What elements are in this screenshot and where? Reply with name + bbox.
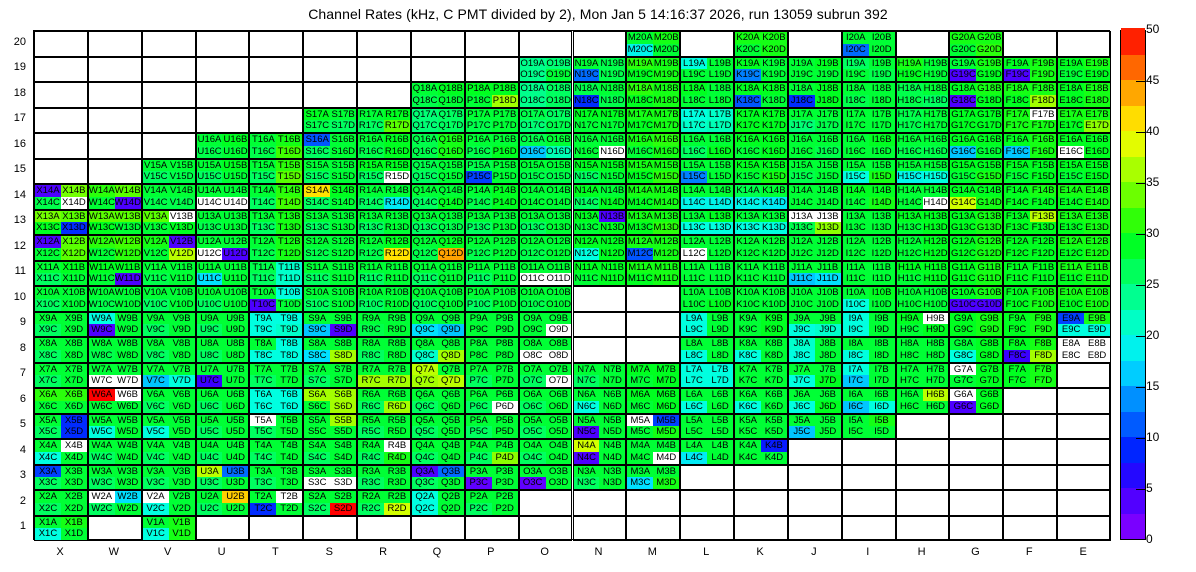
channel-r13a[interactable]: R13A bbox=[358, 211, 384, 223]
channel-w6a[interactable]: W6A bbox=[89, 389, 115, 401]
channel-w7c[interactable]: W7C bbox=[89, 375, 115, 387]
channel-q8c[interactable]: Q8C bbox=[412, 350, 438, 362]
channel-f17b[interactable]: F17B bbox=[1030, 109, 1056, 121]
channel-t4c[interactable]: T4C bbox=[250, 452, 276, 464]
heatmap-cell[interactable]: L7AL7BL7CL7D bbox=[680, 363, 734, 389]
channel-h11c[interactable]: H11C bbox=[897, 273, 923, 285]
channel-o15d[interactable]: O15D bbox=[546, 171, 572, 183]
channel-u3b[interactable]: U3B bbox=[222, 466, 248, 478]
heatmap-cell[interactable]: R16AR16BR16CR16D bbox=[357, 133, 411, 159]
channel-f7a[interactable]: F7A bbox=[1004, 364, 1030, 376]
channel-w2b[interactable]: W2B bbox=[115, 491, 141, 503]
heatmap-cell[interactable]: I20AI20BI20CI20D bbox=[842, 31, 896, 57]
channel-h12d[interactable]: H12D bbox=[923, 248, 949, 260]
channel-t10c[interactable]: T10C bbox=[250, 299, 276, 311]
channel-l4c[interactable]: L4C bbox=[681, 452, 707, 464]
heatmap-cell[interactable]: G9AG9BG9CG9D bbox=[949, 312, 1003, 338]
channel-j13b[interactable]: J13B bbox=[815, 211, 841, 223]
channel-o6c[interactable]: O6C bbox=[520, 401, 546, 413]
channel-u5a[interactable]: U5A bbox=[197, 415, 223, 427]
channel-i16d[interactable]: I16D bbox=[869, 146, 895, 158]
heatmap-cell[interactable]: K20AK20BK20CK20D bbox=[734, 31, 788, 57]
heatmap-cell[interactable]: P10AP10BP10CP10D bbox=[465, 286, 519, 312]
channel-t2b[interactable]: T2B bbox=[276, 491, 302, 503]
channel-p7b[interactable]: P7B bbox=[492, 364, 518, 376]
channel-l14d[interactable]: L14D bbox=[707, 197, 733, 209]
heatmap-cell[interactable]: F15AF15BF15CF15D bbox=[1003, 159, 1057, 185]
channel-j6c[interactable]: J6C bbox=[789, 401, 815, 413]
channel-v5c[interactable]: V5C bbox=[143, 426, 169, 438]
channel-l6d[interactable]: L6D bbox=[707, 401, 733, 413]
channel-e12b[interactable]: E12B bbox=[1084, 236, 1110, 248]
channel-i18d[interactable]: I18D bbox=[869, 95, 895, 107]
channel-e16b[interactable]: E16B bbox=[1084, 134, 1110, 146]
channel-q5d[interactable]: Q5D bbox=[438, 426, 464, 438]
channel-w2d[interactable]: W2D bbox=[115, 503, 141, 515]
channel-h7d[interactable]: H7D bbox=[923, 375, 949, 387]
heatmap-cell[interactable]: N7AN7BN7CN7D bbox=[573, 363, 627, 389]
channel-m13d[interactable]: M13D bbox=[653, 222, 679, 234]
channel-w4b[interactable]: W4B bbox=[115, 440, 141, 452]
heatmap-cell[interactable]: H16AH16BH16CH16D bbox=[896, 133, 950, 159]
channel-o8c[interactable]: O8C bbox=[520, 350, 546, 362]
channel-l13c[interactable]: L13C bbox=[681, 222, 707, 234]
channel-h15b[interactable]: H15B bbox=[923, 160, 949, 172]
channel-x8c[interactable]: X8C bbox=[35, 350, 61, 362]
channel-f13a[interactable]: F13A bbox=[1004, 211, 1030, 223]
channel-p14c[interactable]: P14C bbox=[466, 197, 492, 209]
channel-s11d[interactable]: S11D bbox=[330, 273, 356, 285]
channel-u13d[interactable]: U13D bbox=[222, 222, 248, 234]
heatmap-cell[interactable]: N15AN15BN15CN15D bbox=[573, 159, 627, 185]
channel-q17c[interactable]: Q17C bbox=[412, 120, 438, 132]
heatmap-cell[interactable]: T2AT2BT2CT2D bbox=[249, 490, 303, 516]
channel-q13d[interactable]: Q13D bbox=[438, 222, 464, 234]
channel-f9b[interactable]: F9B bbox=[1030, 313, 1056, 325]
channel-p9d[interactable]: P9D bbox=[492, 324, 518, 336]
heatmap-cell[interactable]: M18AM18BM18CM18D bbox=[626, 82, 680, 108]
heatmap-cell[interactable]: U5AU5BU5CU5D bbox=[196, 414, 250, 440]
channel-r4a[interactable]: R4A bbox=[358, 440, 384, 452]
heatmap-cell[interactable]: J6AJ6BJ6CJ6D bbox=[788, 388, 842, 414]
channel-r7d[interactable]: R7D bbox=[384, 375, 410, 387]
channel-x6b[interactable]: X6B bbox=[61, 389, 87, 401]
heatmap-cell[interactable]: J15AJ15BJ15CJ15D bbox=[788, 159, 842, 185]
channel-l19c[interactable]: L19C bbox=[681, 69, 707, 81]
channel-s3b[interactable]: S3B bbox=[330, 466, 356, 478]
heatmap-cell[interactable]: O3AO3BO3CO3D bbox=[519, 465, 573, 491]
channel-g12c[interactable]: G12C bbox=[950, 248, 976, 260]
heatmap-cell[interactable]: I19AI19BI19CI19D bbox=[842, 57, 896, 83]
heatmap-cell[interactable]: I17AI17BI17CI17D bbox=[842, 108, 896, 134]
channel-v5b[interactable]: V5B bbox=[169, 415, 195, 427]
heatmap-cell[interactable]: K14AK14BK14CK14D bbox=[734, 184, 788, 210]
channel-r2b[interactable]: R2B bbox=[384, 491, 410, 503]
channel-f11a[interactable]: F11A bbox=[1004, 262, 1030, 274]
heatmap-cell[interactable]: L10AL10BL10CL10D bbox=[680, 286, 734, 312]
channel-n16a[interactable]: N16A bbox=[574, 134, 600, 146]
heatmap-cell[interactable]: K18AK18BK18CK18D bbox=[734, 82, 788, 108]
channel-v3d[interactable]: V3D bbox=[169, 477, 195, 489]
heatmap-cell[interactable]: L6AL6BL6CL6D bbox=[680, 388, 734, 414]
channel-k7b[interactable]: K7B bbox=[761, 364, 787, 376]
channel-e16d[interactable]: E16D bbox=[1084, 146, 1110, 158]
channel-s8c[interactable]: S8C bbox=[304, 350, 330, 362]
channel-x12a[interactable]: X12A bbox=[35, 236, 61, 248]
channel-l12d[interactable]: L12D bbox=[707, 248, 733, 260]
channel-p11d[interactable]: P11D bbox=[492, 273, 518, 285]
channel-p12c[interactable]: P12C bbox=[466, 248, 492, 260]
channel-e15d[interactable]: E15D bbox=[1084, 171, 1110, 183]
channel-s15a[interactable]: S15A bbox=[304, 160, 330, 172]
channel-i15b[interactable]: I15B bbox=[869, 160, 895, 172]
channel-w12c[interactable]: W12C bbox=[89, 248, 115, 260]
heatmap-cell[interactable]: H14AH14BH14CH14D bbox=[896, 184, 950, 210]
heatmap-cell[interactable]: L9AL9BL9CL9D bbox=[680, 312, 734, 338]
channel-s17c[interactable]: S17C bbox=[304, 120, 330, 132]
heatmap-cell[interactable]: L17AL17BL17CL17D bbox=[680, 108, 734, 134]
channel-k7d[interactable]: K7D bbox=[761, 375, 787, 387]
channel-q17a[interactable]: Q17A bbox=[412, 109, 438, 121]
heatmap-cell[interactable]: F8AF8BF8CF8D bbox=[1003, 337, 1057, 363]
channel-u10b[interactable]: U10B bbox=[222, 287, 248, 299]
heatmap-cell[interactable]: S15AS15BS15CS15D bbox=[303, 159, 357, 185]
channel-p6c[interactable]: P6C bbox=[466, 401, 492, 413]
channel-j5d[interactable]: J5D bbox=[815, 426, 841, 438]
channel-r3b[interactable]: R3B bbox=[384, 466, 410, 478]
channel-v15b[interactable]: V15B bbox=[169, 160, 195, 172]
channel-s5b[interactable]: S5B bbox=[330, 415, 356, 427]
channel-n14b[interactable]: N14B bbox=[599, 185, 625, 197]
channel-u8c[interactable]: U8C bbox=[197, 350, 223, 362]
channel-e17b[interactable]: E17B bbox=[1084, 109, 1110, 121]
channel-h18a[interactable]: H18A bbox=[897, 83, 923, 95]
channel-i16b[interactable]: I16B bbox=[869, 134, 895, 146]
channel-e8c[interactable]: E8C bbox=[1058, 350, 1084, 362]
channel-t14b[interactable]: T14B bbox=[276, 185, 302, 197]
channel-t6a[interactable]: T6A bbox=[250, 389, 276, 401]
channel-i15c[interactable]: I15C bbox=[843, 171, 869, 183]
channel-g17b[interactable]: G17B bbox=[976, 109, 1002, 121]
channel-q5a[interactable]: Q5A bbox=[412, 415, 438, 427]
channel-q2c[interactable]: Q2C bbox=[412, 503, 438, 515]
channel-k11a[interactable]: K11A bbox=[735, 262, 761, 274]
heatmap-cell[interactable]: T7AT7BT7CT7D bbox=[249, 363, 303, 389]
channel-j5c[interactable]: J5C bbox=[789, 426, 815, 438]
channel-k10c[interactable]: K10C bbox=[735, 299, 761, 311]
channel-k19d[interactable]: K19D bbox=[761, 69, 787, 81]
channel-h19b[interactable]: H19B bbox=[923, 58, 949, 70]
heatmap-cell[interactable]: I14AI14BI14CI14D bbox=[842, 184, 896, 210]
channel-g9c[interactable]: G9C bbox=[950, 324, 976, 336]
heatmap-cell[interactable]: F11AF11BF11CF11D bbox=[1003, 261, 1057, 287]
channel-f19b[interactable]: F19B bbox=[1030, 58, 1056, 70]
channel-f11d[interactable]: F11D bbox=[1030, 273, 1056, 285]
channel-p18c[interactable]: P18C bbox=[466, 95, 492, 107]
channel-k4a[interactable]: K4A bbox=[735, 440, 761, 452]
heatmap-cell[interactable]: P3AP3BP3CP3D bbox=[465, 465, 519, 491]
channel-p4b[interactable]: P4B bbox=[492, 440, 518, 452]
heatmap-cell[interactable]: O8AO8BO8CO8D bbox=[519, 337, 573, 363]
channel-r6a[interactable]: R6A bbox=[358, 389, 384, 401]
heatmap-cell[interactable]: W8AW8BW8CW8D bbox=[88, 337, 142, 363]
channel-s16c[interactable]: S16C bbox=[304, 146, 330, 158]
channel-r14b[interactable]: R14B bbox=[384, 185, 410, 197]
channel-q12b[interactable]: Q12B bbox=[438, 236, 464, 248]
channel-w14b[interactable]: W14B bbox=[115, 185, 141, 197]
channel-x13a[interactable]: X13A bbox=[35, 211, 61, 223]
channel-t14c[interactable]: T14C bbox=[250, 197, 276, 209]
channel-p12b[interactable]: P12B bbox=[492, 236, 518, 248]
channel-p16a[interactable]: P16A bbox=[466, 134, 492, 146]
heatmap-cell[interactable]: G6AG6BG6CG6D bbox=[949, 388, 1003, 414]
channel-x2c[interactable]: X2C bbox=[35, 503, 61, 515]
channel-k10b[interactable]: K10B bbox=[761, 287, 787, 299]
heatmap-cell[interactable]: V14AV14BV14CV14D bbox=[142, 184, 196, 210]
channel-n12d[interactable]: N12D bbox=[599, 248, 625, 260]
channel-f12d[interactable]: F12D bbox=[1030, 248, 1056, 260]
heatmap-cell[interactable]: V12AV12BV12CV12D bbox=[142, 235, 196, 261]
heatmap-cell[interactable]: T15AT15BT15CT15D bbox=[249, 159, 303, 185]
channel-o18b[interactable]: O18B bbox=[546, 83, 572, 95]
channel-p9b[interactable]: P9B bbox=[492, 313, 518, 325]
channel-h11d[interactable]: H11D bbox=[923, 273, 949, 285]
heatmap-cell[interactable]: M19AM19BM19CM19D bbox=[626, 57, 680, 83]
channel-l14a[interactable]: L14A bbox=[681, 185, 707, 197]
channel-i8b[interactable]: I8B bbox=[869, 338, 895, 350]
channel-k20b[interactable]: K20B bbox=[761, 32, 787, 44]
channel-o18d[interactable]: O18D bbox=[546, 95, 572, 107]
channel-w9c[interactable]: W9C bbox=[89, 324, 115, 336]
channel-g15b[interactable]: G15B bbox=[976, 160, 1002, 172]
heatmap-cell[interactable]: J9AJ9BJ9CJ9D bbox=[788, 312, 842, 338]
channel-j19a[interactable]: J19A bbox=[789, 58, 815, 70]
channel-k16a[interactable]: K16A bbox=[735, 134, 761, 146]
channel-s4a[interactable]: S4A bbox=[304, 440, 330, 452]
channel-m5a[interactable]: M5A bbox=[627, 415, 653, 427]
channel-i11b[interactable]: I11B bbox=[869, 262, 895, 274]
heatmap-cell[interactable]: G14AG14BG14CG14D bbox=[949, 184, 1003, 210]
channel-g10b[interactable]: G10B bbox=[976, 287, 1002, 299]
channel-r10a[interactable]: R10A bbox=[358, 287, 384, 299]
channel-j9c[interactable]: J9C bbox=[789, 324, 815, 336]
heatmap-cell[interactable]: I7AI7BI7CI7D bbox=[842, 363, 896, 389]
channel-m13b[interactable]: M13B bbox=[653, 211, 679, 223]
channel-r6b[interactable]: R6B bbox=[384, 389, 410, 401]
channel-v5a[interactable]: V5A bbox=[143, 415, 169, 427]
heatmap-cell[interactable]: V5AV5BV5CV5D bbox=[142, 414, 196, 440]
channel-i8a[interactable]: I8A bbox=[843, 338, 869, 350]
channel-e15c[interactable]: E15C bbox=[1058, 171, 1084, 183]
channel-k17c[interactable]: K17C bbox=[735, 120, 761, 132]
channel-e19d[interactable]: E19D bbox=[1084, 69, 1110, 81]
channel-f17c[interactable]: F17C bbox=[1004, 120, 1030, 132]
heatmap-cell[interactable]: S11AS11BS11CS11D bbox=[303, 261, 357, 287]
channel-t5a[interactable]: T5A bbox=[250, 415, 276, 427]
channel-k8d[interactable]: K8D bbox=[761, 350, 787, 362]
channel-s14c[interactable]: S14C bbox=[304, 197, 330, 209]
channel-v7c[interactable]: V7C bbox=[143, 375, 169, 387]
channel-n5d[interactable]: N5D bbox=[599, 426, 625, 438]
channel-o11c[interactable]: O11C bbox=[520, 273, 546, 285]
channel-j11a[interactable]: J11A bbox=[789, 262, 815, 274]
channel-p4c[interactable]: P4C bbox=[466, 452, 492, 464]
channel-h14c[interactable]: H14C bbox=[897, 197, 923, 209]
channel-e17c[interactable]: E17C bbox=[1058, 120, 1084, 132]
channel-rate-heatmap[interactable]: M20AM20BM20CM20DK20AK20BK20CK20DI20AI20B… bbox=[33, 30, 1110, 540]
channel-p7c[interactable]: P7C bbox=[466, 375, 492, 387]
channel-s13b[interactable]: S13B bbox=[330, 211, 356, 223]
heatmap-cell[interactable]: X10AX10BX10CX10D bbox=[34, 286, 88, 312]
channel-m20a[interactable]: M20A bbox=[627, 32, 653, 44]
channel-u7d[interactable]: U7D bbox=[222, 375, 248, 387]
channel-m17b[interactable]: M17B bbox=[653, 109, 679, 121]
channel-m20d[interactable]: M20D bbox=[653, 44, 679, 56]
channel-m14b[interactable]: M14B bbox=[653, 185, 679, 197]
channel-n6d[interactable]: N6D bbox=[599, 401, 625, 413]
channel-h6b[interactable]: H6B bbox=[923, 389, 949, 401]
channel-x1a[interactable]: X1A bbox=[35, 517, 61, 529]
channel-v4b[interactable]: V4B bbox=[169, 440, 195, 452]
heatmap-cell[interactable]: O14AO14BO14CO14D bbox=[519, 184, 573, 210]
channel-o11d[interactable]: O11D bbox=[546, 273, 572, 285]
channel-l18b[interactable]: L18B bbox=[707, 83, 733, 95]
heatmap-cell[interactable]: J13AJ13BJ13CJ13D bbox=[788, 210, 842, 236]
channel-p14a[interactable]: P14A bbox=[466, 185, 492, 197]
channel-i9d[interactable]: I9D bbox=[869, 324, 895, 336]
channel-t7a[interactable]: T7A bbox=[250, 364, 276, 376]
channel-s12b[interactable]: S12B bbox=[330, 236, 356, 248]
channel-g13b[interactable]: G13B bbox=[976, 211, 1002, 223]
channel-l14b[interactable]: L14B bbox=[707, 185, 733, 197]
channel-n15c[interactable]: N15C bbox=[574, 171, 600, 183]
channel-t3c[interactable]: T3C bbox=[250, 477, 276, 489]
channel-v14b[interactable]: V14B bbox=[169, 185, 195, 197]
channel-k20a[interactable]: K20A bbox=[735, 32, 761, 44]
heatmap-cell[interactable]: G17AG17BG17CG17D bbox=[949, 108, 1003, 134]
channel-s10b[interactable]: S10B bbox=[330, 287, 356, 299]
channel-v13c[interactable]: V13C bbox=[143, 222, 169, 234]
channel-p10c[interactable]: P10C bbox=[466, 299, 492, 311]
channel-g14d[interactable]: G14D bbox=[976, 197, 1002, 209]
channel-j14b[interactable]: J14B bbox=[815, 185, 841, 197]
channel-s5c[interactable]: S5C bbox=[304, 426, 330, 438]
channel-j12d[interactable]: J12D bbox=[815, 248, 841, 260]
channel-m11a[interactable]: M11A bbox=[627, 262, 653, 274]
channel-r2a[interactable]: R2A bbox=[358, 491, 384, 503]
channel-n12c[interactable]: N12C bbox=[574, 248, 600, 260]
channel-p18a[interactable]: P18A bbox=[466, 83, 492, 95]
channel-o5b[interactable]: O5B bbox=[546, 415, 572, 427]
channel-j8c[interactable]: J8C bbox=[789, 350, 815, 362]
channel-w9a[interactable]: W9A bbox=[89, 313, 115, 325]
channel-t12a[interactable]: T12A bbox=[250, 236, 276, 248]
channel-k13b[interactable]: K13B bbox=[761, 211, 787, 223]
channel-w12d[interactable]: W12D bbox=[115, 248, 141, 260]
channel-j14a[interactable]: J14A bbox=[789, 185, 815, 197]
heatmap-cell[interactable]: W11AW11BW11CW11D bbox=[88, 261, 142, 287]
heatmap-cell[interactable]: G12AG12BG12CG12D bbox=[949, 235, 1003, 261]
channel-r4b[interactable]: R4B bbox=[384, 440, 410, 452]
channel-o17d[interactable]: O17D bbox=[546, 120, 572, 132]
channel-k17a[interactable]: K17A bbox=[735, 109, 761, 121]
channel-t16b[interactable]: T16B bbox=[276, 134, 302, 146]
channel-q11c[interactable]: Q11C bbox=[412, 273, 438, 285]
heatmap-cell[interactable]: X12AX12BX12CX12D bbox=[34, 235, 88, 261]
channel-e13b[interactable]: E13B bbox=[1084, 211, 1110, 223]
channel-w9b[interactable]: W9B bbox=[115, 313, 141, 325]
channel-q18c[interactable]: Q18C bbox=[412, 95, 438, 107]
channel-q3c[interactable]: Q3C bbox=[412, 477, 438, 489]
channel-i6b[interactable]: I6B bbox=[869, 389, 895, 401]
channel-p15b[interactable]: P15B bbox=[492, 160, 518, 172]
channel-m12c[interactable]: M12C bbox=[627, 248, 653, 260]
channel-s9d[interactable]: S9D bbox=[330, 324, 356, 336]
channel-i9c[interactable]: I9C bbox=[843, 324, 869, 336]
channel-o16c[interactable]: O16C bbox=[520, 146, 546, 158]
channel-f12c[interactable]: F12C bbox=[1004, 248, 1030, 260]
channel-t13a[interactable]: T13A bbox=[250, 211, 276, 223]
channel-e9b[interactable]: E9B bbox=[1084, 313, 1110, 325]
channel-o15c[interactable]: O15C bbox=[520, 171, 546, 183]
channel-i8d[interactable]: I8D bbox=[869, 350, 895, 362]
channel-x3d[interactable]: X3D bbox=[61, 477, 87, 489]
channel-o12d[interactable]: O12D bbox=[546, 248, 572, 260]
channel-h10d[interactable]: H10D bbox=[923, 299, 949, 311]
heatmap-cell[interactable]: T5AT5BT5CT5D bbox=[249, 414, 303, 440]
channel-l16a[interactable]: L16A bbox=[681, 134, 707, 146]
channel-m15a[interactable]: M15A bbox=[627, 160, 653, 172]
channel-q10c[interactable]: Q10C bbox=[412, 299, 438, 311]
heatmap-cell[interactable]: N17AN17BN17CN17D bbox=[573, 108, 627, 134]
heatmap-cell[interactable]: S12AS12BS12CS12D bbox=[303, 235, 357, 261]
channel-k18b[interactable]: K18B bbox=[761, 83, 787, 95]
channel-p13b[interactable]: P13B bbox=[492, 211, 518, 223]
heatmap-cell[interactable]: W2AW2BW2CW2D bbox=[88, 490, 142, 516]
channel-q11b[interactable]: Q11B bbox=[438, 262, 464, 274]
channel-n7c[interactable]: N7C bbox=[574, 375, 600, 387]
channel-x12c[interactable]: X12C bbox=[35, 248, 61, 260]
channel-i14a[interactable]: I14A bbox=[843, 185, 869, 197]
channel-w7d[interactable]: W7D bbox=[115, 375, 141, 387]
channel-h16a[interactable]: H16A bbox=[897, 134, 923, 146]
channel-q14b[interactable]: Q14B bbox=[438, 185, 464, 197]
channel-g11a[interactable]: G11A bbox=[950, 262, 976, 274]
channel-v2d[interactable]: V2D bbox=[169, 503, 195, 515]
channel-u16b[interactable]: U16B bbox=[222, 134, 248, 146]
channel-v6c[interactable]: V6C bbox=[143, 401, 169, 413]
channel-o8d[interactable]: O8D bbox=[546, 350, 572, 362]
channel-o6d[interactable]: O6D bbox=[546, 401, 572, 413]
heatmap-cell[interactable]: M6AM6BM6CM6D bbox=[626, 388, 680, 414]
channel-e12a[interactable]: E12A bbox=[1058, 236, 1084, 248]
channel-j17a[interactable]: J17A bbox=[789, 109, 815, 121]
heatmap-cell[interactable]: E10AE10BE10CE10D bbox=[1057, 286, 1111, 312]
channel-j15b[interactable]: J15B bbox=[815, 160, 841, 172]
channel-e19a[interactable]: E19A bbox=[1058, 58, 1084, 70]
channel-m11b[interactable]: M11B bbox=[653, 262, 679, 274]
channel-p3d[interactable]: P3D bbox=[492, 477, 518, 489]
channel-k20d[interactable]: K20D bbox=[761, 44, 787, 56]
channel-j6a[interactable]: J6A bbox=[789, 389, 815, 401]
channel-g8a[interactable]: G8A bbox=[950, 338, 976, 350]
channel-j19d[interactable]: J19D bbox=[815, 69, 841, 81]
channel-q3a[interactable]: Q3A bbox=[412, 466, 438, 478]
channel-o10a[interactable]: O10A bbox=[520, 287, 546, 299]
channel-p3c[interactable]: P3C bbox=[466, 477, 492, 489]
channel-i9b[interactable]: I9B bbox=[869, 313, 895, 325]
channel-q18a[interactable]: Q18A bbox=[412, 83, 438, 95]
